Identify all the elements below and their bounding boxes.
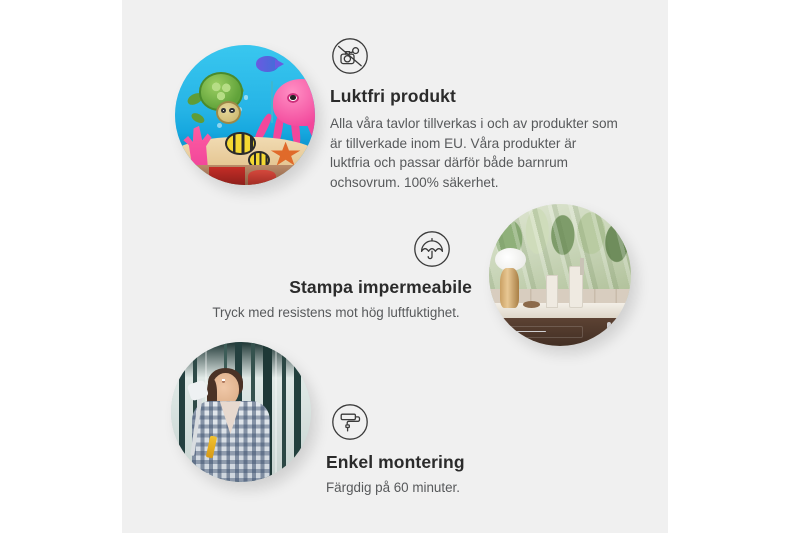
- feature-block-odour-free: Luktfri produkt Alla våra tavlor tillver…: [330, 36, 620, 192]
- vanity-drawer: [500, 326, 582, 338]
- red-object-shape: [209, 167, 245, 185]
- smile: [222, 379, 226, 383]
- turtle-head: [216, 101, 241, 124]
- gold-vase: [500, 268, 518, 308]
- tree-trunk: [294, 342, 301, 482]
- forest-illustration: [171, 342, 311, 482]
- underwater-cartoon-photo: [175, 45, 315, 185]
- tree-trunk: [282, 342, 287, 482]
- roller-head: [187, 379, 209, 401]
- icon-row: [200, 229, 472, 277]
- woman-figure: [191, 373, 272, 482]
- octopus-eye: [287, 93, 299, 103]
- feature-description: Alla våra tavlor tillverkas i och av pro…: [330, 114, 620, 192]
- paint-roller-icon: [330, 402, 370, 442]
- bottle: [546, 275, 558, 308]
- soap-dish: [523, 301, 540, 308]
- floor-strip: [175, 165, 315, 185]
- feature-description: Tryck med resistens mot hög luftfuktighe…: [200, 303, 472, 323]
- feature-title: Enkel montering: [326, 452, 606, 473]
- octopus-shape: [262, 79, 315, 146]
- feature-block-waterproof-print: Stampa impermeabile Tryck med resistens …: [200, 229, 472, 323]
- feature-title: Luktfri produkt: [330, 86, 620, 107]
- feature-block-easy-installation: Enkel montering Färgdig på 60 minuter.: [326, 402, 606, 498]
- underwater-illustration: [175, 45, 315, 185]
- woman-with-roller-forest-photo: [171, 342, 311, 482]
- soap-dispenser: [580, 258, 584, 275]
- octopus-head: [273, 79, 315, 126]
- bathroom-leaf-wallpaper-photo: [489, 204, 631, 346]
- feature-title: Stampa impermeabile: [200, 277, 472, 298]
- bathroom-illustration: [489, 204, 631, 346]
- turtle-shape: [189, 72, 251, 128]
- tree-trunk: [179, 342, 185, 482]
- drawer-handle: [515, 331, 546, 332]
- cabinet-handle: [607, 322, 611, 338]
- umbrella-icon: [412, 229, 452, 269]
- turtle-fin: [190, 111, 206, 125]
- no-perfume-icon: [330, 36, 370, 76]
- wallpaper-seam: [275, 342, 277, 482]
- feature-description: Färgdig på 60 minuter.: [326, 478, 606, 498]
- promo-banner: Luktfri produkt Alla våra tavlor tillver…: [0, 0, 800, 533]
- wood-vanity: [489, 318, 631, 346]
- blue-fish-shape: [256, 56, 278, 71]
- red-object-shape: [248, 170, 276, 185]
